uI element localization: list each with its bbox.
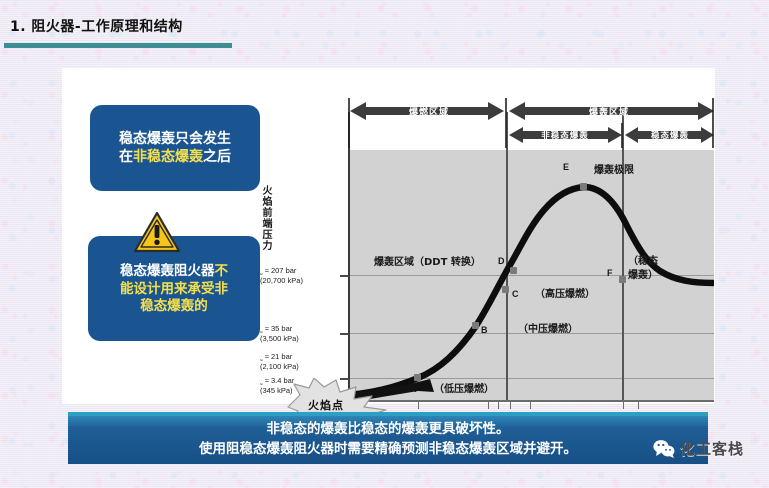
banner-line-2: 使用阻稳态爆轰阻火器时需要精确预测非稳态爆轰区域并避开。 — [199, 440, 577, 460]
callout1-line2-prefix: 在 — [119, 149, 133, 165]
region-label-steady-detonation-line2: 爆轰） — [628, 266, 658, 281]
page-title: 1. 阻火器-工作原理和结构 — [10, 16, 183, 36]
region-label-ddt: 爆轰区域（DDT 转换） — [374, 253, 481, 268]
pressure-curve — [262, 90, 714, 410]
data-point-C — [502, 286, 509, 293]
point-label-D: D — [498, 256, 505, 266]
annotation-detonation-limit: 爆轰极限 — [594, 161, 634, 176]
point-label-C: C — [512, 289, 519, 299]
callout1-line2-highlight: 非稳态爆轰 — [133, 149, 203, 165]
title-bar: 1. 阻火器-工作原理和结构 — [0, 8, 769, 44]
region-label-medium-pressure-deflagration: （中压爆燃） — [518, 320, 578, 335]
data-point-B — [472, 322, 479, 329]
watermark-text: 化工客栈 — [680, 438, 744, 459]
callout2-line1-highlight: 不 — [215, 263, 229, 279]
data-point-F — [619, 276, 626, 283]
callout2-line2: 能设计用来承受非 — [94, 281, 254, 299]
callout2-line3: 稳态爆轰的 — [94, 298, 254, 316]
wechat-icon — [653, 439, 675, 458]
callout-steady-after-unsteady: 稳态爆轰只会发生 在非稳态爆轰之后 — [90, 105, 260, 191]
warning-triangle-icon — [134, 211, 180, 253]
title-underline-rule — [4, 43, 232, 48]
data-point-E — [580, 183, 587, 190]
data-point-D — [510, 267, 517, 274]
ignition-point-label: 火焰点 — [308, 397, 344, 413]
banner-line-1: 非稳态的爆轰比稳态的爆轰更具破坏性。 — [267, 420, 510, 440]
callout1-line2-suffix: 之后 — [203, 149, 231, 165]
callout1-line1: 稳态爆轰只会发生 — [90, 130, 260, 148]
pressure-vs-pipe-length-chart: ˷ ≈ 207 bar (20,700 kPa) ˷ ≈ 35 bar (3,5… — [262, 90, 714, 380]
region-label-high-pressure-deflagration: （高压爆燃） — [535, 285, 595, 300]
callout2-line1-plain: 稳态爆轰阻火器 — [120, 263, 215, 279]
point-label-E: E — [563, 162, 569, 172]
summary-banner: 非稳态的爆轰比稳态的爆轰更具破坏性。 使用阻稳态爆轰阻火器时需要精确预测非稳态爆… — [68, 412, 708, 464]
point-label-B: B — [481, 325, 488, 335]
wechat-watermark: 化工客栈 — [653, 438, 744, 459]
region-label-steady-detonation-line1: （稳态 — [628, 252, 658, 267]
point-label-F: F — [607, 268, 613, 278]
region-label-low-pressure-deflagration: （低压爆燃） — [434, 380, 494, 395]
